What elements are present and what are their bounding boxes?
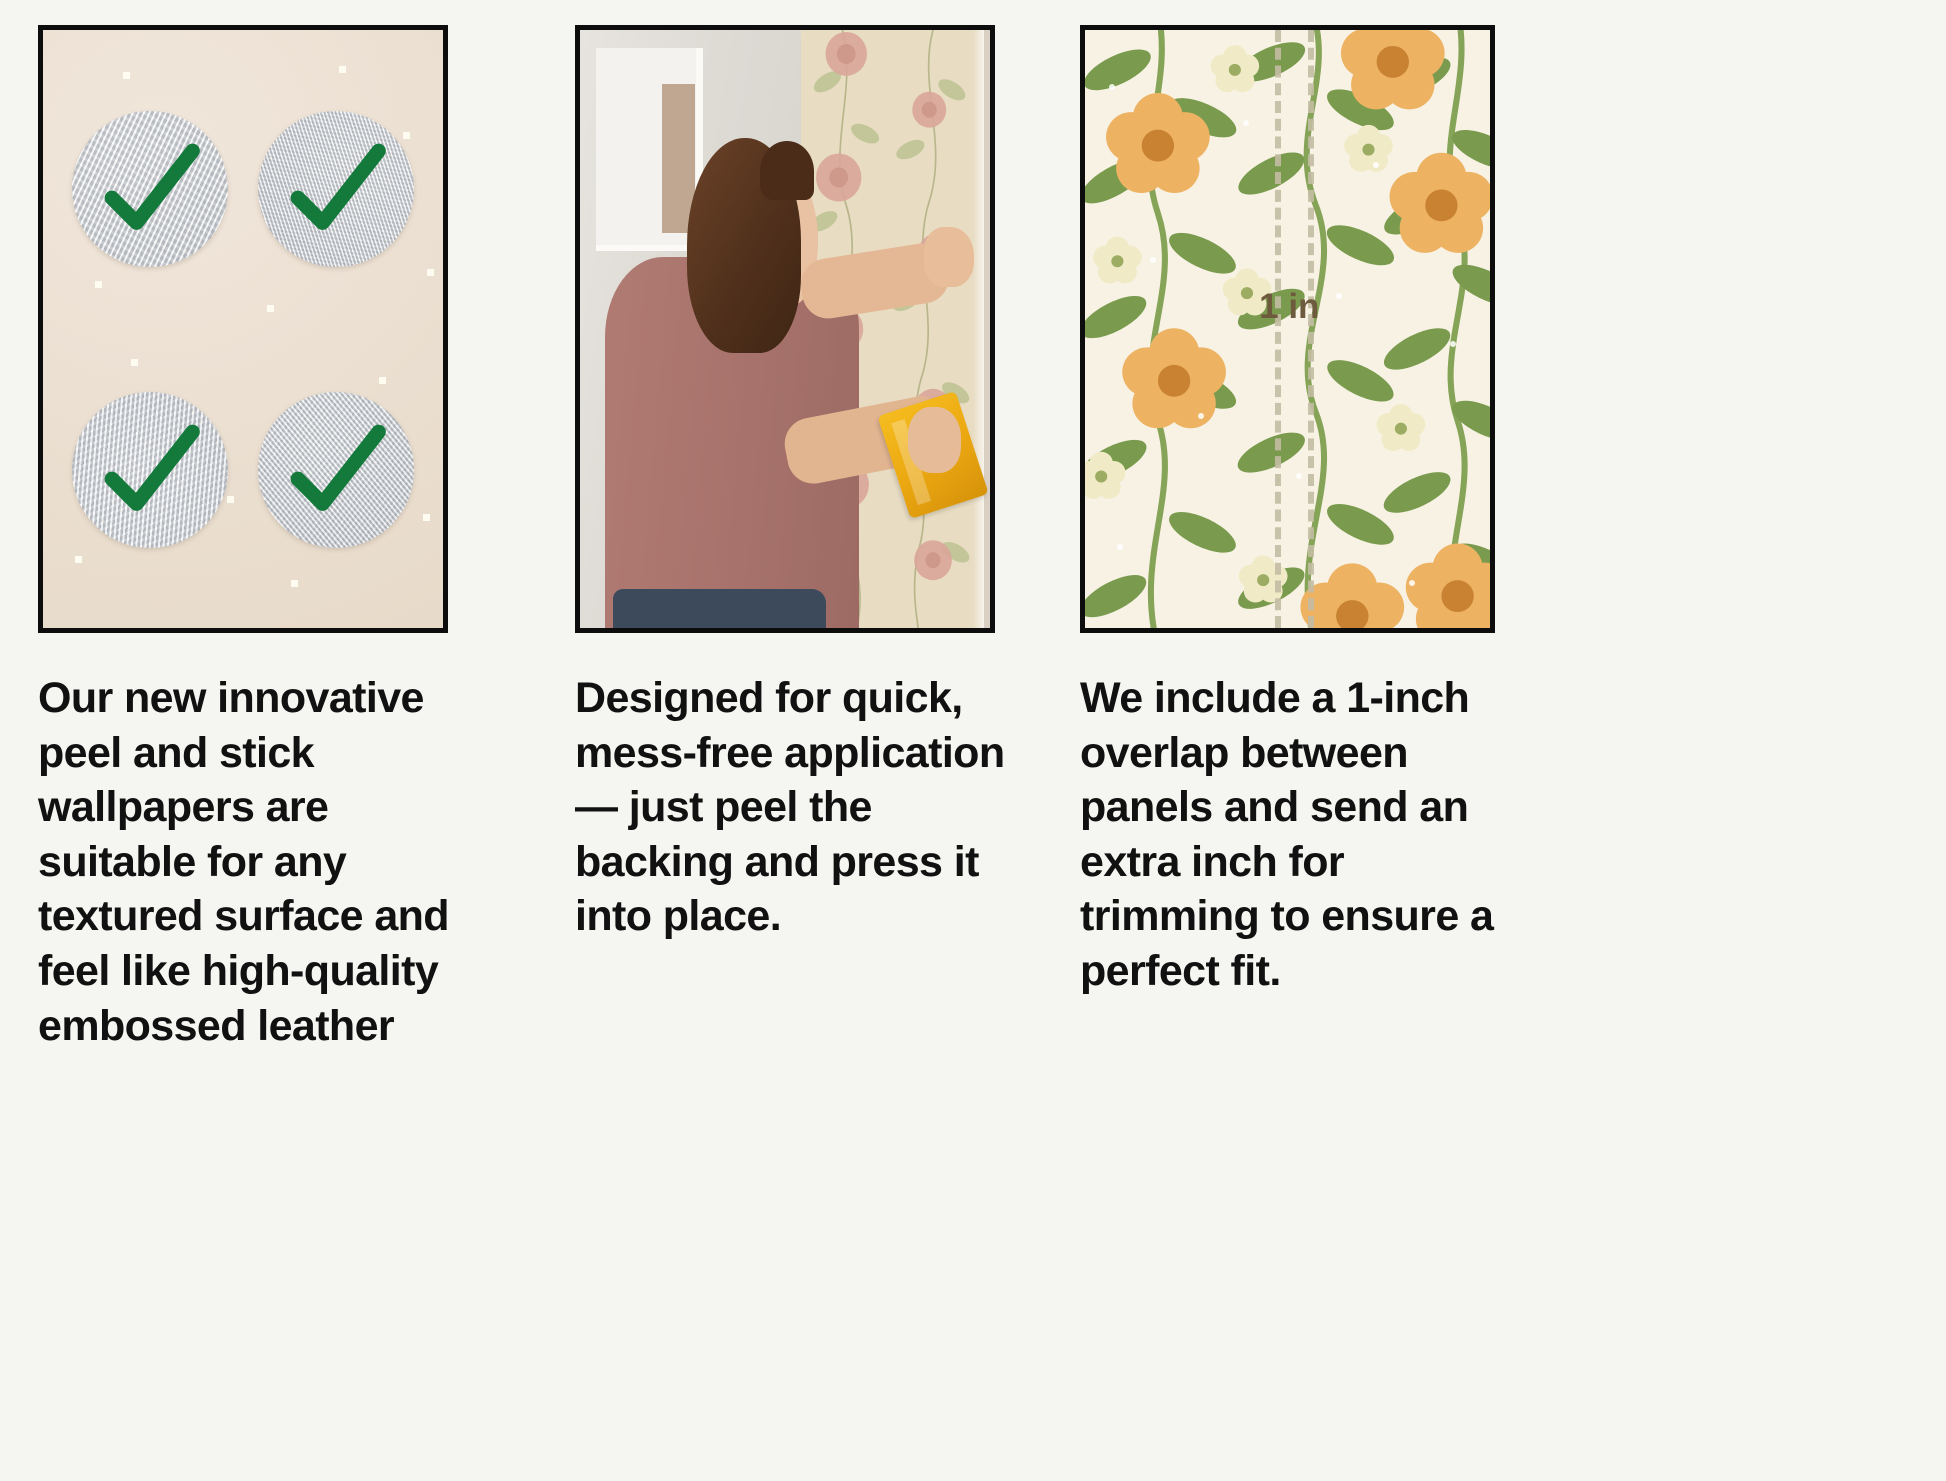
check-icon xyxy=(280,414,392,526)
overlap-dashed-line-right xyxy=(1308,30,1314,628)
textured-circle-grid xyxy=(43,30,443,628)
textured-surface-swatch xyxy=(258,392,414,548)
overlap-dashed-line-left xyxy=(1275,30,1281,628)
check-icon xyxy=(94,133,206,245)
textured-surface-swatch xyxy=(72,111,228,267)
feature-highlights-page: Our new innovative peel and stick wallpa… xyxy=(0,0,1946,1481)
person-jeans xyxy=(613,589,826,628)
person-lower-hand xyxy=(908,407,961,473)
overlap-illustration-frame: 1 in xyxy=(1080,25,1495,633)
floral-overlap-illustration: 1 in xyxy=(1085,30,1490,628)
textured-circle-item xyxy=(61,52,239,325)
person-hair-front xyxy=(760,141,813,201)
corner-shadow xyxy=(984,30,990,628)
textured-surface-swatch xyxy=(258,111,414,267)
textured-circle-item xyxy=(247,52,425,325)
feature-columns: Our new innovative peel and stick wallpa… xyxy=(0,0,1946,1053)
overlap-measurement-label: 1 in xyxy=(1259,287,1319,327)
textured-surface-swatch xyxy=(72,392,228,548)
feature-caption-application: Designed for quick, mess-free applicatio… xyxy=(575,671,1025,944)
person-upper-hand xyxy=(924,227,973,287)
check-icon xyxy=(280,133,392,245)
feature-column-overlap: 1 in We include a 1-inch overlap between… xyxy=(1080,0,1946,1053)
application-photograph xyxy=(580,30,990,628)
floral-pattern xyxy=(1085,30,1490,628)
feature-caption-textured-surfaces: Our new innovative peel and stick wallpa… xyxy=(38,671,468,1053)
textured-circle-item xyxy=(61,333,239,606)
feature-column-textured-surfaces: Our new innovative peel and stick wallpa… xyxy=(0,0,575,1053)
check-icon xyxy=(94,414,206,526)
feature-column-application: Designed for quick, mess-free applicatio… xyxy=(575,0,1080,1053)
textured-circle-item xyxy=(247,333,425,606)
application-photo-frame xyxy=(575,25,995,633)
textured-surfaces-image-frame xyxy=(38,25,448,633)
feature-caption-overlap: We include a 1-inch overlap between pane… xyxy=(1080,671,1520,999)
